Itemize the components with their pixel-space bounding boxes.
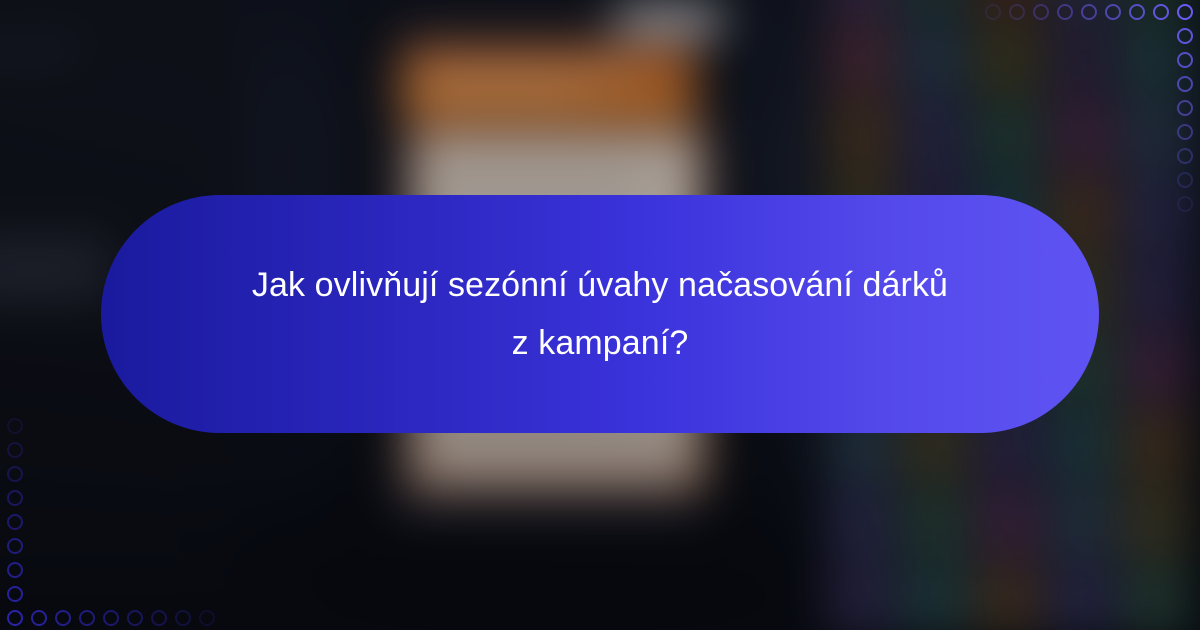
- backdrop-grid-cell: [827, 487, 895, 559]
- backdrop-grid-cell: [900, 100, 968, 172]
- backdrop-text-line: [428, 161, 661, 168]
- backdrop-document-tab: [616, 4, 722, 36]
- headline-text: Jak ovlivňují sezónní úvahy načasování d…: [252, 256, 948, 372]
- backdrop-grid-cell: [827, 100, 895, 172]
- decorative-ring: [1105, 4, 1121, 20]
- decorative-ring: [175, 610, 191, 626]
- headline-pill: Jak ovlivňují sezónní úvahy načasování d…: [101, 195, 1099, 433]
- backdrop-grid-cell: [1121, 177, 1189, 249]
- backdrop-grid-cell: [974, 564, 1042, 630]
- decorative-ring: [1153, 4, 1169, 20]
- decorative-ring: [7, 562, 23, 578]
- decorative-ring: [1009, 4, 1025, 20]
- backdrop-grid-cell: [974, 487, 1042, 559]
- backdrop-document-header: [401, 45, 696, 121]
- backdrop-grid-cell: [900, 0, 968, 17]
- backdrop-grid-cell: [1121, 409, 1189, 481]
- backdrop-grid-cell: [1048, 22, 1116, 94]
- decorative-ring: [7, 586, 23, 602]
- backdrop-grid-cell: [974, 22, 1042, 94]
- decorative-ring: [1081, 4, 1097, 20]
- decorative-ring: [1177, 148, 1193, 164]
- backdrop-grid-cell: [827, 22, 895, 94]
- backdrop-grid-cell: [1048, 487, 1116, 559]
- backdrop-grid-cell: [827, 0, 895, 17]
- decorative-ring: [1177, 76, 1193, 92]
- backdrop-document-header-subline: [420, 89, 579, 99]
- decorative-ring: [7, 538, 23, 554]
- backdrop-grid-cell: [974, 100, 1042, 172]
- backdrop-grid-cell: [900, 487, 968, 559]
- decorative-ring: [1177, 172, 1193, 188]
- decorative-ring: [31, 610, 47, 626]
- decorative-ring: [1177, 100, 1193, 116]
- backdrop-grid-cell: [1121, 255, 1189, 327]
- decorative-ring: [1057, 4, 1073, 20]
- decorative-ring: [79, 610, 95, 626]
- decorative-ring: [7, 610, 23, 626]
- social-share-card: Jak ovlivňují sezónní úvahy načasování d…: [0, 0, 1200, 630]
- decorative-ring: [1129, 4, 1145, 20]
- decorative-ring: [7, 466, 23, 482]
- backdrop-grid-cell: [974, 0, 1042, 17]
- decorative-ring: [1177, 196, 1193, 212]
- decorative-ring: [1033, 4, 1049, 20]
- decorative-ring: [127, 610, 143, 626]
- decorative-ring: [1177, 124, 1193, 140]
- backdrop-grid-cell: [1048, 564, 1116, 630]
- decorative-ring: [985, 4, 1001, 20]
- backdrop-grid-cell: [1048, 409, 1116, 481]
- decorative-ring: [1177, 52, 1193, 68]
- backdrop-grid-cell: [1121, 564, 1189, 630]
- backdrop-grid-cell: [900, 22, 968, 94]
- decorative-ring: [7, 418, 23, 434]
- backdrop-grid-cell: [1121, 332, 1189, 404]
- decorative-ring: [7, 442, 23, 458]
- backdrop-grid-cell: [1048, 100, 1116, 172]
- decorative-ring: [55, 610, 71, 626]
- decorative-ring: [7, 514, 23, 530]
- decorative-ring: [103, 610, 119, 626]
- backdrop-grid-cell: [1121, 487, 1189, 559]
- decorative-ring: [1177, 28, 1193, 44]
- backdrop-sidebar-block: [0, 236, 110, 304]
- backdrop-grid-cell: [900, 564, 968, 630]
- decorative-ring: [7, 490, 23, 506]
- backdrop-text-line: [428, 180, 636, 187]
- decorative-ring: [151, 610, 167, 626]
- decorative-ring: [1177, 4, 1193, 20]
- backdrop-document-header-line: [420, 66, 632, 78]
- backdrop-sidebar-block-2: [0, 40, 83, 65]
- decorative-ring: [199, 610, 215, 626]
- backdrop-grid-cell: [827, 564, 895, 630]
